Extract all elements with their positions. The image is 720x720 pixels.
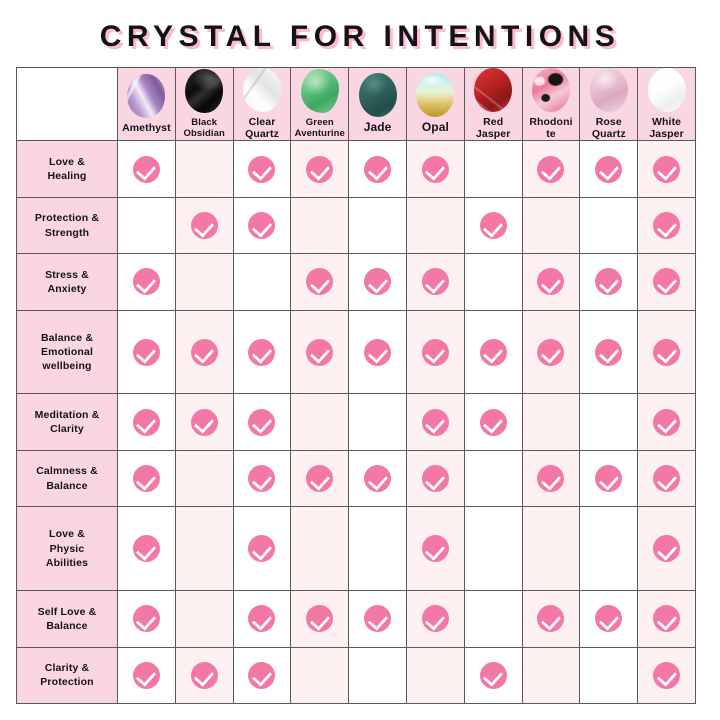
check-icon (480, 662, 507, 689)
table-row: Calmness &Balance (17, 450, 696, 506)
column-header-amethyst: Amethyst (118, 68, 176, 141)
check-icon (537, 156, 564, 183)
column-header-label: Opal (407, 121, 464, 135)
matrix-cell[interactable] (406, 197, 464, 253)
matrix-cell[interactable] (464, 310, 522, 394)
check-icon (537, 339, 564, 366)
matrix-cell[interactable] (406, 450, 464, 506)
matrix-cell[interactable] (118, 507, 176, 591)
matrix-cell[interactable] (118, 394, 176, 450)
column-header-red-jasper: RedJasper (464, 68, 522, 141)
matrix-cell[interactable] (522, 141, 580, 197)
matrix-cell[interactable] (291, 507, 349, 591)
check-icon (422, 268, 449, 295)
matrix-cell[interactable] (406, 254, 464, 310)
row-label-self-love-balance: Self Love &Balance (17, 591, 118, 647)
matrix-corner-cell (17, 68, 118, 141)
matrix-cell[interactable] (118, 310, 176, 394)
check-icon (306, 339, 333, 366)
check-icon (422, 409, 449, 436)
check-icon (133, 662, 160, 689)
check-icon (133, 339, 160, 366)
check-icon (248, 605, 275, 632)
matrix-cell[interactable] (580, 310, 638, 394)
check-icon (480, 339, 507, 366)
table-row: Stress &Anxiety (17, 254, 696, 310)
matrix-cell[interactable] (406, 647, 464, 704)
check-icon (653, 339, 680, 366)
matrix-cell[interactable] (175, 310, 233, 394)
matrix-cell[interactable] (233, 450, 291, 506)
check-icon (133, 465, 160, 492)
crystal-matrix-wrapper: AmethystBlackObsidianClearQuartzGreenAve… (16, 67, 695, 704)
matrix-cell[interactable] (233, 647, 291, 704)
table-row: Balance &Emotionalwellbeing (17, 310, 696, 394)
table-row: Protection &Strength (17, 197, 696, 253)
column-header-label: RoseQuartz (580, 116, 637, 140)
check-icon (422, 156, 449, 183)
black-obsidian-stone-icon (185, 69, 223, 113)
column-header-green-aventurine: GreenAventurine (291, 68, 349, 141)
check-icon (653, 268, 680, 295)
check-icon (653, 465, 680, 492)
matrix-cell[interactable] (464, 591, 522, 647)
matrix-cell[interactable] (175, 507, 233, 591)
matrix-cell[interactable] (638, 591, 696, 647)
column-header-clear-quartz: ClearQuartz (233, 68, 291, 141)
matrix-cell[interactable] (522, 394, 580, 450)
crystal-intention-matrix: AmethystBlackObsidianClearQuartzGreenAve… (16, 67, 696, 704)
check-icon (248, 212, 275, 239)
amethyst-stone-icon (127, 74, 165, 118)
check-icon (306, 156, 333, 183)
matrix-cell[interactable] (406, 310, 464, 394)
check-icon (306, 268, 333, 295)
matrix-cell[interactable] (638, 450, 696, 506)
matrix-cell[interactable] (638, 394, 696, 450)
matrix-cell[interactable] (522, 254, 580, 310)
matrix-cell[interactable] (522, 507, 580, 591)
matrix-cell[interactable] (349, 394, 407, 450)
matrix-cell[interactable] (580, 507, 638, 591)
jade-stone-icon (359, 73, 397, 117)
matrix-cell[interactable] (638, 197, 696, 253)
check-icon (653, 156, 680, 183)
column-header-jade: Jade (349, 68, 407, 141)
matrix-cell[interactable] (291, 197, 349, 253)
matrix-cell[interactable] (580, 197, 638, 253)
check-icon (306, 605, 333, 632)
check-icon (653, 535, 680, 562)
column-header-white-jasper: WhiteJasper (638, 68, 696, 141)
check-icon (133, 535, 160, 562)
matrix-cell[interactable] (291, 394, 349, 450)
matrix-cell[interactable] (464, 141, 522, 197)
matrix-cell[interactable] (233, 310, 291, 394)
matrix-cell[interactable] (580, 254, 638, 310)
check-icon (480, 212, 507, 239)
check-icon (653, 662, 680, 689)
check-icon (537, 605, 564, 632)
column-header-opal: Opal (406, 68, 464, 141)
column-header-label: BlackObsidian (176, 117, 233, 139)
matrix-cell[interactable] (349, 450, 407, 506)
matrix-cell[interactable] (349, 310, 407, 394)
column-header-label: Amethyst (118, 122, 175, 134)
matrix-cell[interactable] (349, 254, 407, 310)
check-icon (537, 465, 564, 492)
red-jasper-stone-icon (474, 68, 512, 112)
check-icon (191, 339, 218, 366)
column-header-rose-quartz: RoseQuartz (580, 68, 638, 141)
check-icon (248, 465, 275, 492)
matrix-cell[interactable] (291, 647, 349, 704)
check-icon (595, 268, 622, 295)
matrix-cell[interactable] (580, 591, 638, 647)
matrix-cell[interactable] (638, 141, 696, 197)
matrix-cell[interactable] (522, 310, 580, 394)
column-header-label: ClearQuartz (234, 116, 291, 140)
column-header-label: WhiteJasper (638, 116, 695, 140)
matrix-cell[interactable] (291, 254, 349, 310)
table-row: Love &PhysicAbilities (17, 507, 696, 591)
check-icon (364, 156, 391, 183)
matrix-cell[interactable] (233, 394, 291, 450)
opal-stone-icon (416, 73, 454, 117)
check-icon (248, 409, 275, 436)
matrix-cell[interactable] (464, 394, 522, 450)
check-icon (364, 339, 391, 366)
matrix-cell[interactable] (522, 591, 580, 647)
matrix-cell[interactable] (291, 450, 349, 506)
matrix-cell[interactable] (118, 254, 176, 310)
matrix-cell[interactable] (580, 394, 638, 450)
check-icon (595, 605, 622, 632)
check-icon (537, 268, 564, 295)
matrix-cell[interactable] (464, 647, 522, 704)
matrix-cell[interactable] (118, 197, 176, 253)
check-icon (364, 465, 391, 492)
row-label-calmness-balance: Calmness &Balance (17, 450, 118, 506)
column-header-label: Rhodonite (523, 116, 580, 140)
matrix-cell[interactable] (464, 450, 522, 506)
matrix-cell[interactable] (349, 591, 407, 647)
matrix-header-row: AmethystBlackObsidianClearQuartzGreenAve… (17, 68, 696, 141)
check-icon (248, 662, 275, 689)
page-title: CRYSTAL FOR INTENTIONS (0, 20, 720, 54)
matrix-cell[interactable] (233, 141, 291, 197)
check-icon (595, 339, 622, 366)
matrix-cell[interactable] (349, 507, 407, 591)
row-label-love-healing: Love &Healing (17, 141, 118, 197)
rhodonite-stone-icon (532, 68, 570, 112)
check-icon (653, 212, 680, 239)
table-row: Meditation &Clarity (17, 394, 696, 450)
check-icon (422, 339, 449, 366)
matrix-cell[interactable] (233, 254, 291, 310)
crystal-intentions-infographic: CRYSTAL FOR INTENTIONS AmethystBlackObsi… (0, 0, 720, 720)
matrix-cell[interactable] (406, 507, 464, 591)
table-row: Self Love &Balance (17, 591, 696, 647)
matrix-cell[interactable] (464, 254, 522, 310)
matrix-cell[interactable] (291, 141, 349, 197)
row-label-balance-emotional-wellbeing: Balance &Emotionalwellbeing (17, 310, 118, 394)
row-label-clarity-protection: Clarity &Protection (17, 647, 118, 704)
column-header-black-obsidian: BlackObsidian (175, 68, 233, 141)
matrix-cell[interactable] (291, 591, 349, 647)
matrix-cell[interactable] (349, 647, 407, 704)
matrix-cell[interactable] (175, 647, 233, 704)
matrix-cell[interactable] (638, 507, 696, 591)
matrix-cell[interactable] (522, 450, 580, 506)
check-icon (595, 156, 622, 183)
row-label-protection-strength: Protection &Strength (17, 197, 118, 253)
matrix-header: AmethystBlackObsidianClearQuartzGreenAve… (17, 68, 696, 141)
check-icon (306, 465, 333, 492)
check-icon (422, 605, 449, 632)
matrix-cell[interactable] (175, 450, 233, 506)
check-icon (191, 409, 218, 436)
column-header-label: GreenAventurine (291, 117, 348, 139)
check-icon (248, 339, 275, 366)
green-aventurine-stone-icon (301, 69, 339, 113)
matrix-cell[interactable] (638, 647, 696, 704)
row-label-love-physic-abilities: Love &PhysicAbilities (17, 507, 118, 591)
rose-quartz-stone-icon (590, 68, 628, 112)
check-icon (133, 268, 160, 295)
column-header-rhodonite: Rhodonite (522, 68, 580, 141)
check-icon (480, 409, 507, 436)
matrix-cell[interactable] (175, 197, 233, 253)
matrix-body: Love &HealingProtection &StrengthStress … (17, 141, 696, 704)
matrix-cell[interactable] (175, 591, 233, 647)
matrix-cell[interactable] (406, 591, 464, 647)
matrix-cell[interactable] (175, 254, 233, 310)
matrix-cell[interactable] (464, 507, 522, 591)
check-icon (364, 605, 391, 632)
white-jasper-stone-icon (648, 68, 686, 112)
matrix-cell[interactable] (406, 394, 464, 450)
check-icon (248, 156, 275, 183)
check-icon (653, 605, 680, 632)
check-icon (422, 535, 449, 562)
matrix-cell[interactable] (638, 254, 696, 310)
row-label-meditation-clarity: Meditation &Clarity (17, 394, 118, 450)
clear-quartz-stone-icon (243, 68, 281, 112)
column-header-label: Jade (349, 121, 406, 135)
table-row: Clarity &Protection (17, 647, 696, 704)
matrix-cell[interactable] (522, 647, 580, 704)
matrix-cell[interactable] (349, 141, 407, 197)
matrix-cell[interactable] (118, 591, 176, 647)
check-icon (364, 268, 391, 295)
matrix-cell[interactable] (291, 310, 349, 394)
check-icon (422, 465, 449, 492)
matrix-cell[interactable] (118, 141, 176, 197)
check-icon (133, 605, 160, 632)
matrix-cell[interactable] (118, 450, 176, 506)
check-icon (133, 156, 160, 183)
matrix-cell[interactable] (175, 394, 233, 450)
table-row: Love &Healing (17, 141, 696, 197)
column-header-label: RedJasper (465, 116, 522, 140)
check-icon (191, 212, 218, 239)
matrix-cell[interactable] (118, 647, 176, 704)
check-icon (248, 535, 275, 562)
matrix-cell[interactable] (638, 310, 696, 394)
check-icon (595, 465, 622, 492)
matrix-cell[interactable] (406, 141, 464, 197)
matrix-cell[interactable] (175, 141, 233, 197)
matrix-cell[interactable] (233, 591, 291, 647)
matrix-cell[interactable] (233, 197, 291, 253)
matrix-cell[interactable] (233, 507, 291, 591)
matrix-cell[interactable] (464, 197, 522, 253)
matrix-cell[interactable] (580, 450, 638, 506)
matrix-cell[interactable] (522, 197, 580, 253)
matrix-cell[interactable] (580, 141, 638, 197)
check-icon (191, 662, 218, 689)
check-icon (133, 409, 160, 436)
row-label-stress-anxiety: Stress &Anxiety (17, 254, 118, 310)
matrix-cell[interactable] (349, 197, 407, 253)
check-icon (653, 409, 680, 436)
matrix-cell[interactable] (580, 647, 638, 704)
